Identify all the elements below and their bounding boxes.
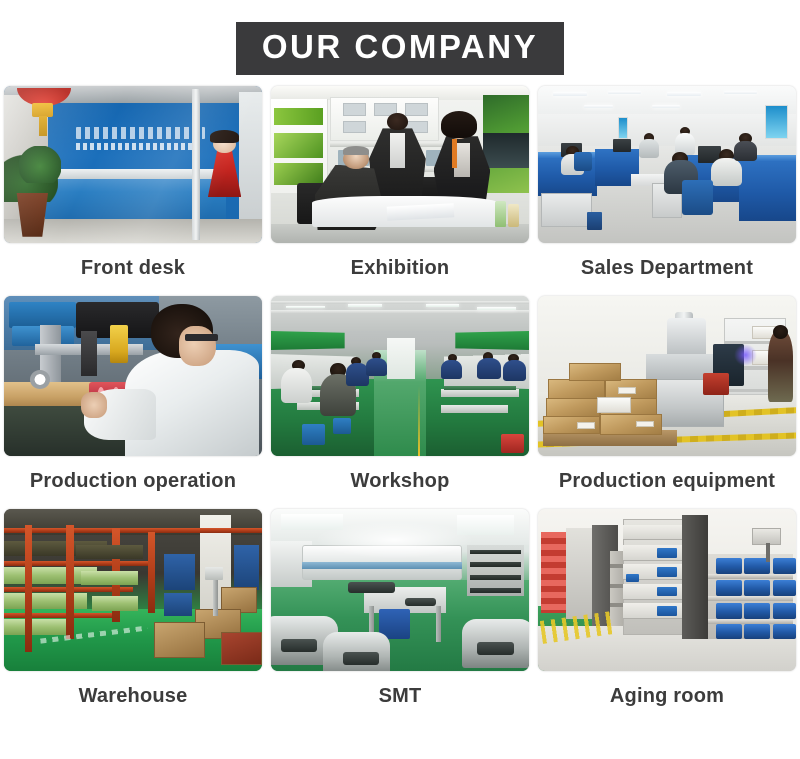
cabinet-display-1 bbox=[657, 548, 678, 558]
cabinet-unit-1 bbox=[623, 525, 690, 540]
stock-carton-3 bbox=[154, 622, 206, 658]
green-banner-2 bbox=[274, 133, 323, 158]
blue-unit-11 bbox=[744, 624, 770, 639]
rack-upright-2 bbox=[66, 525, 74, 638]
ceiling-light-6 bbox=[652, 105, 680, 108]
blue-unit-6 bbox=[773, 580, 796, 596]
photo-smt[interactable] bbox=[271, 509, 529, 671]
worker-4 bbox=[366, 358, 387, 376]
photo-aging-room[interactable] bbox=[538, 509, 796, 671]
worker-6 bbox=[477, 358, 500, 379]
floor-marking-line bbox=[418, 386, 420, 456]
employee-6 bbox=[734, 141, 757, 161]
worker-5 bbox=[441, 360, 462, 379]
ceiling-lamp-3 bbox=[426, 304, 460, 307]
office-chair-2 bbox=[574, 152, 592, 171]
blue-unit-4 bbox=[716, 580, 742, 596]
blue-stock-bin-3 bbox=[234, 545, 260, 590]
ceiling-lamp-4 bbox=[477, 307, 516, 310]
page-title-container: OUR COMPANY bbox=[0, 22, 800, 75]
blue-stock-bin-2 bbox=[164, 593, 192, 616]
conveyor-motor-1 bbox=[281, 639, 317, 652]
caption-front-desk: Front desk bbox=[0, 243, 266, 296]
conveyor-motor-2 bbox=[343, 652, 379, 665]
ceiling-beam-2 bbox=[271, 310, 529, 313]
green-banner-1 bbox=[274, 108, 323, 125]
ceiling-light-4 bbox=[724, 91, 758, 95]
red-machine-unit bbox=[703, 373, 729, 395]
employee-2 bbox=[639, 139, 660, 158]
gallery-item-workshop[interactable]: Workshop bbox=[267, 296, 533, 509]
cabinet-display-4 bbox=[657, 606, 678, 616]
red-container bbox=[501, 434, 524, 453]
employee-5 bbox=[711, 158, 742, 186]
rack-beam-4 bbox=[4, 613, 112, 618]
waste-bin bbox=[587, 212, 602, 231]
board-thumbnail-1 bbox=[343, 103, 366, 116]
green-banner-right bbox=[455, 331, 529, 350]
oven-conveyor-band bbox=[302, 562, 462, 568]
gallery-item-exhibition[interactable]: Exhibition bbox=[267, 86, 533, 296]
machine-upper-body bbox=[667, 318, 706, 356]
control-box-wire bbox=[766, 543, 770, 562]
board-thumbnail-4 bbox=[343, 121, 366, 134]
ceiling-lamp-2 bbox=[348, 304, 382, 307]
white-carton bbox=[597, 397, 631, 413]
rack-contents-5 bbox=[76, 545, 143, 560]
blue-unit-12 bbox=[773, 624, 796, 639]
rack-tray-4 bbox=[470, 588, 522, 593]
caption-production-equipment: Production equipment bbox=[534, 456, 800, 509]
caption-workshop: Workshop bbox=[267, 456, 533, 509]
gallery-item-production-operation[interactable]: Production operation bbox=[0, 296, 266, 509]
gallery-item-sales-department[interactable]: Sales Department bbox=[534, 86, 800, 296]
solder-paste-bottle bbox=[110, 325, 128, 363]
blue-stock-bin-1 bbox=[164, 554, 195, 590]
rack-contents-3 bbox=[4, 593, 87, 609]
pressure-gauge bbox=[30, 370, 51, 389]
carton-7 bbox=[569, 363, 621, 381]
photo-production-operation[interactable] bbox=[4, 296, 262, 456]
photo-exhibition[interactable] bbox=[271, 86, 529, 243]
woman-lanyard bbox=[452, 139, 457, 167]
far-doorway bbox=[387, 338, 415, 380]
ceiling-light-5 bbox=[584, 105, 612, 108]
carton-3 bbox=[546, 398, 600, 417]
cubicle-partition-4 bbox=[739, 158, 796, 221]
work-table-right-2 bbox=[441, 405, 508, 413]
gallery-item-production-equipment[interactable]: Production equipment bbox=[534, 296, 800, 509]
ceiling-light-2 bbox=[608, 91, 642, 95]
gallery-item-aging-room[interactable]: Aging room bbox=[534, 509, 800, 724]
facility-photo-grid: Front desk bbox=[0, 86, 800, 724]
bench-leg-2 bbox=[436, 606, 441, 642]
rack-beam-top bbox=[4, 528, 262, 533]
caption-sales-department: Sales Department bbox=[534, 243, 800, 296]
standing-man-shirt bbox=[390, 133, 405, 168]
blue-unit-1 bbox=[716, 558, 742, 574]
gallery-item-smt[interactable]: SMT bbox=[267, 509, 533, 724]
shelf-level-1 bbox=[708, 574, 793, 579]
warehouse-monitor bbox=[205, 567, 223, 580]
gallery-item-warehouse[interactable]: Warehouse bbox=[0, 509, 266, 724]
worker-1 bbox=[281, 368, 312, 403]
rack-contents-4 bbox=[4, 619, 71, 635]
caption-exhibition: Exhibition bbox=[267, 243, 533, 296]
photo-front-desk[interactable] bbox=[4, 86, 262, 243]
blue-unit-7 bbox=[716, 603, 742, 619]
caption-warehouse: Warehouse bbox=[0, 671, 266, 724]
window-glare bbox=[317, 522, 472, 558]
rack-contents-7 bbox=[92, 596, 138, 611]
cabinet-display-2 bbox=[657, 567, 678, 577]
caption-aging-room: Aging room bbox=[534, 671, 800, 724]
ceiling-beam-1 bbox=[271, 301, 529, 304]
photo-warehouse[interactable] bbox=[4, 509, 262, 671]
water-bottle-2 bbox=[508, 204, 518, 228]
shelf-level-2 bbox=[708, 596, 793, 601]
woman-hair bbox=[441, 111, 477, 138]
red-crate bbox=[221, 632, 262, 664]
standing-man-head bbox=[387, 113, 408, 130]
office-ceiling bbox=[538, 86, 796, 117]
dark-tray-1 bbox=[348, 582, 394, 593]
rack-upright-1 bbox=[25, 525, 33, 651]
office-chair-1 bbox=[682, 180, 713, 215]
uv-light-glow bbox=[734, 344, 757, 366]
page-title: OUR COMPANY bbox=[236, 22, 564, 75]
wall-poster-right bbox=[765, 105, 788, 140]
gallery-item-front-desk[interactable]: Front desk bbox=[0, 86, 266, 296]
right-dark-screen bbox=[483, 133, 529, 168]
dark-tray-2 bbox=[405, 598, 436, 606]
carton-label-2 bbox=[577, 422, 595, 428]
conveyor-motor-3 bbox=[477, 642, 513, 655]
blue-unit-10 bbox=[716, 624, 742, 639]
worker-hand bbox=[81, 392, 107, 418]
ceiling-lamp-1 bbox=[286, 306, 325, 309]
green-banner-3 bbox=[274, 163, 323, 185]
monitor-2 bbox=[613, 139, 631, 152]
board-thumbnail-3 bbox=[405, 103, 428, 116]
rack-tray-2 bbox=[470, 562, 522, 567]
rack-upright-4 bbox=[148, 532, 154, 613]
table-mat-right-1 bbox=[444, 386, 516, 391]
carton-label-3 bbox=[636, 421, 654, 427]
photo-production-equipment[interactable] bbox=[538, 296, 796, 456]
blue-unit-3 bbox=[773, 558, 796, 574]
storage-cabinet-1 bbox=[541, 193, 593, 228]
worker-face bbox=[179, 326, 215, 366]
technician-body bbox=[768, 331, 794, 401]
rack-tray-1 bbox=[470, 550, 522, 555]
blue-unit-5 bbox=[744, 580, 770, 596]
blue-unit-8 bbox=[744, 603, 770, 619]
monitor-stand bbox=[213, 574, 218, 616]
photo-workshop[interactable] bbox=[271, 296, 529, 456]
wall-poster-left bbox=[618, 117, 628, 139]
blue-unit-9 bbox=[773, 603, 796, 619]
ceiling-light-3 bbox=[667, 92, 701, 96]
cabinet-display-5 bbox=[626, 574, 639, 582]
stool-1 bbox=[302, 424, 325, 445]
dispenser-arm bbox=[81, 331, 96, 376]
seated-man-hair bbox=[343, 146, 369, 155]
stool-2 bbox=[333, 418, 351, 434]
rack-tray-3 bbox=[470, 575, 522, 580]
worker-7 bbox=[503, 360, 526, 381]
cabinet-dark-side bbox=[682, 515, 708, 638]
rack-contents-6 bbox=[81, 571, 138, 586]
carton-label-1 bbox=[618, 387, 636, 393]
photo-sales-department[interactable] bbox=[538, 86, 796, 243]
green-banner-left bbox=[271, 331, 345, 350]
cabinet-display-3 bbox=[657, 587, 678, 597]
glass-reflection bbox=[4, 86, 262, 243]
caption-production-operation: Production operation bbox=[0, 456, 266, 509]
company-gallery-page: OUR COMPANY bbox=[0, 0, 800, 759]
caption-smt: SMT bbox=[267, 671, 533, 724]
worker-glasses bbox=[185, 334, 219, 340]
water-bottle-1 bbox=[495, 201, 505, 228]
ceiling-light-1 bbox=[553, 92, 587, 96]
